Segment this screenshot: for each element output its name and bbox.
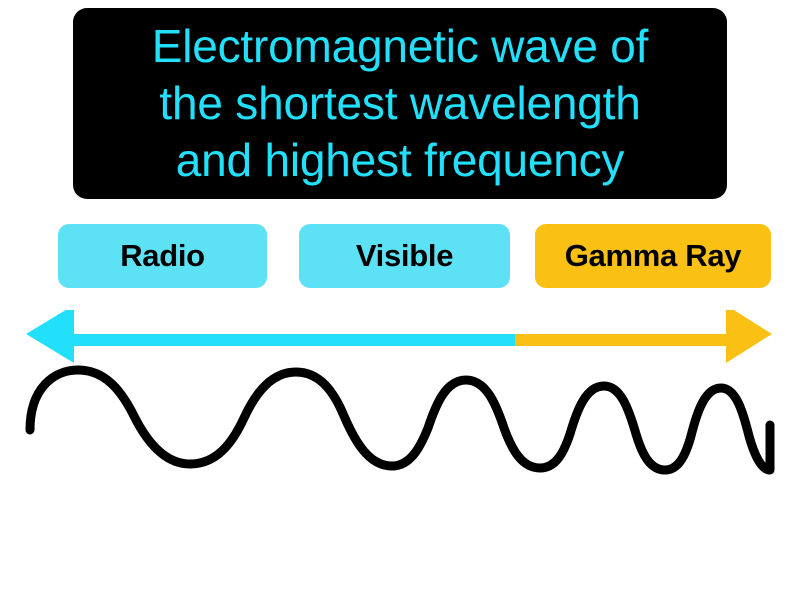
arrow-shaft-right [515,334,738,346]
arrow-right-icon [726,310,772,363]
spectrum-label-gamma-ray: Gamma Ray [535,224,771,288]
definition-banner: Electromagnetic wave of the shortest wav… [73,8,727,199]
spectrum-label-gamma-ray-text: Gamma Ray [565,238,742,274]
definition-card: Electromagnetic wave of the shortest wav… [0,0,800,600]
arrow-shaft-left [66,334,515,346]
spectrum-label-radio-text: Radio [120,238,205,274]
definition-line-2: the shortest wavelength [159,75,640,132]
spectrum-label-radio: Radio [58,224,267,288]
spectrum-label-visible-text: Visible [356,238,453,274]
definition-line-1: Electromagnetic wave of [152,18,649,75]
spectrum-label-visible: Visible [299,224,510,288]
definition-line-3: and highest frequency [176,132,624,189]
spectrum-labels: Radio Visible Gamma Ray [0,224,800,290]
wave-path [30,370,770,470]
waveform [0,358,800,490]
